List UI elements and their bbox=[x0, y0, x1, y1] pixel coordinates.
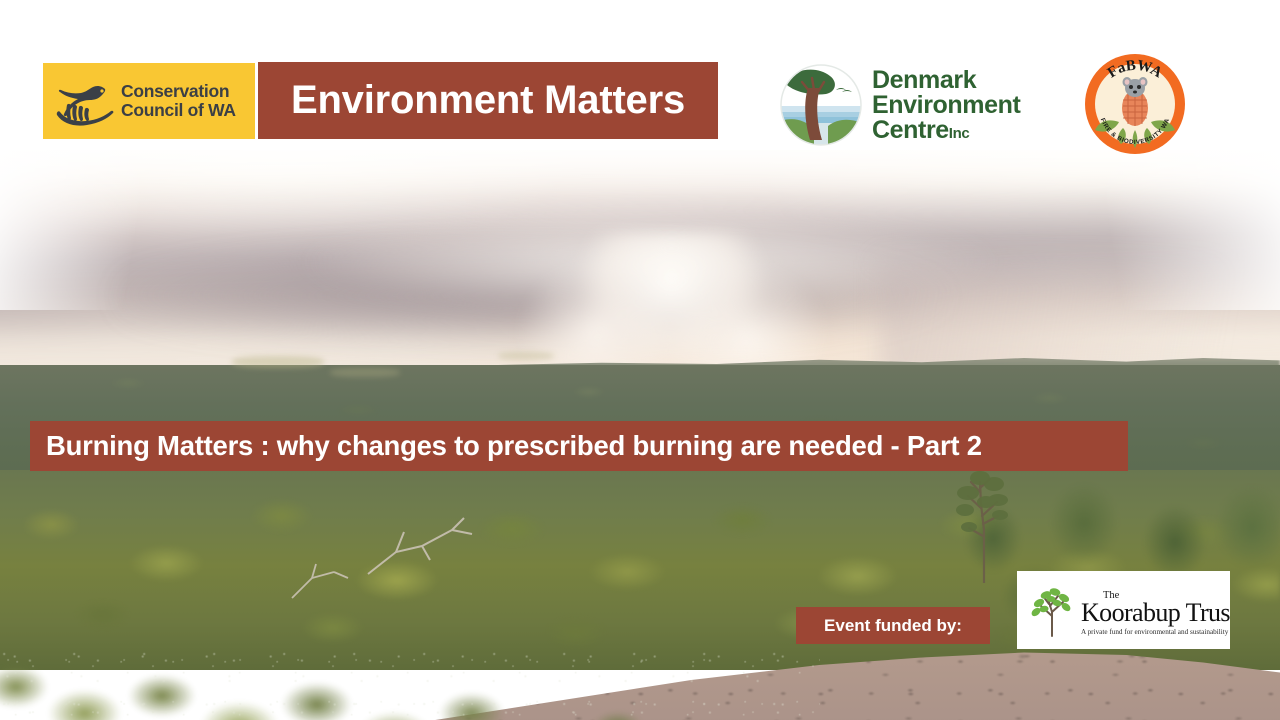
ccwa-line1: Conservation bbox=[121, 82, 236, 101]
denmark-environment-centre-logo[interactable]: Denmark Environment CentreInc bbox=[778, 60, 1028, 150]
lone-eucalypt-tree bbox=[928, 458, 1038, 583]
title-banner: Burning Matters : why changes to prescri… bbox=[30, 421, 1128, 471]
denmark-wordmark: Denmark Environment CentreInc bbox=[872, 68, 1020, 143]
denmark-line2: Environment bbox=[872, 93, 1020, 118]
page-title: Burning Matters : why changes to prescri… bbox=[30, 430, 982, 462]
ccwa-line2: Council of WA bbox=[121, 101, 236, 120]
funded-by-label: Event funded by: bbox=[824, 616, 962, 636]
denmark-line3-wrap: CentreInc bbox=[872, 118, 1020, 143]
tree-icon bbox=[1025, 582, 1081, 638]
koorabup-trust-logo[interactable]: The Koorabup Trust A private fund for en… bbox=[1017, 571, 1230, 649]
ccwa-logo[interactable]: Conservation Council of WA bbox=[43, 63, 255, 139]
numbat-icon bbox=[53, 75, 115, 127]
tree-water-circle-icon bbox=[778, 62, 864, 148]
funded-by-banner: Event funded by: bbox=[796, 607, 990, 644]
forest-clearing-patch bbox=[498, 352, 554, 360]
dead-branch-icon bbox=[360, 512, 490, 578]
denmark-line3: Centre bbox=[872, 116, 949, 144]
denmark-inc-suffix: Inc bbox=[949, 125, 969, 142]
environment-matters-banner: Environment Matters bbox=[258, 62, 718, 139]
shrub-flower-speckle bbox=[0, 645, 820, 720]
koorabup-name-label: Koorabup Trust bbox=[1081, 598, 1230, 628]
forest-clearing-patch bbox=[330, 368, 400, 377]
event-poster: Conservation Council of WA Environment M… bbox=[0, 0, 1280, 720]
header-bar: Conservation Council of WA Environment M… bbox=[0, 0, 1280, 150]
ccwa-wordmark: Conservation Council of WA bbox=[121, 82, 236, 120]
koorabup-tagline: A private fund for environmental and sus… bbox=[1081, 628, 1230, 636]
forest-clearing-patch bbox=[232, 356, 324, 368]
dead-branch-icon bbox=[286, 558, 356, 602]
environment-matters-label: Environment Matters bbox=[291, 78, 685, 123]
denmark-line1: Denmark bbox=[872, 68, 1020, 93]
fabwa-logo[interactable]: FaBWA FIRE & BIODIVERSITY WA bbox=[1083, 52, 1187, 156]
